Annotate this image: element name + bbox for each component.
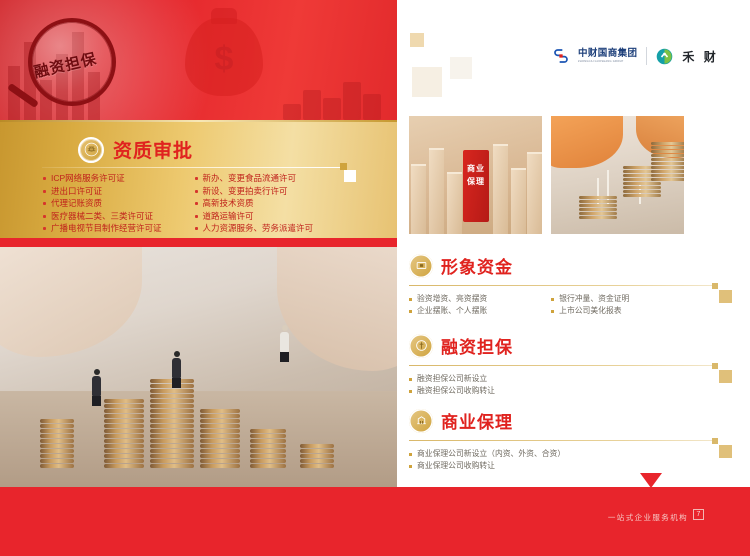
decor-square-gold (410, 33, 424, 47)
section-title: 商业保理 (441, 408, 513, 433)
list-item: 商业保理公司收购转让 (409, 460, 565, 472)
hand-left-graphic (0, 247, 142, 357)
coin-stack (150, 379, 194, 469)
miniature-figure (172, 351, 181, 388)
zhongcai-logo-text: 中财国商集团 ZHONGCAI GUOSHANG GROUP (578, 49, 637, 64)
section-financing-guarantee: 融资担保 融资担保公司新设立 融资担保公司收购转让 (409, 333, 744, 398)
coin-stack (250, 429, 286, 469)
section-title: 融资担保 (441, 333, 513, 358)
section-divider (409, 440, 714, 441)
section-list-left: 验资增资、亮资摆资 企业摆账、个人摆账 (409, 293, 487, 318)
decor-square-small (712, 438, 718, 444)
section-commercial-factoring: 商业保理 商业保理公司新设立（内资、外资、合资） 商业保理公司收购转让 (409, 408, 744, 473)
coin-stack (104, 399, 144, 469)
section-header: 商业保理 (409, 408, 744, 433)
hero-banner-photo: 融资担保 (0, 0, 397, 120)
list-item: 新设、变更拍卖行许可 (194, 185, 314, 198)
sleeve-graphic (551, 116, 623, 168)
section-divider (409, 365, 714, 366)
qualification-list-left: ICP网络服务许可证 进出口许可证 代理记账资质 医疗器械二类、三类许可证 广播… (42, 172, 162, 235)
factoring-building-icon (409, 409, 433, 433)
list-item: 银行冲量、资金证明 (551, 293, 629, 305)
hand-right-graphic (277, 247, 397, 371)
red-divider-strip (0, 238, 397, 247)
decor-square-large (719, 290, 732, 303)
section-header: 形象资金 (409, 253, 744, 278)
decor-square-cream-large (412, 67, 442, 97)
list-item: 医疗器械二类、三类许可证 (42, 210, 162, 223)
logo-divider (646, 47, 647, 65)
qualification-header: 资质审批 (78, 136, 193, 163)
qualification-title: 资质审批 (113, 136, 193, 163)
thumbnail-row: 商业保理 (409, 116, 684, 234)
main-photo-miniature-figures (0, 247, 397, 487)
coin-stack (200, 409, 240, 469)
list-item: 上市公司美化报表 (551, 305, 629, 317)
section-list-left: 商业保理公司新设立（内资、外资、合资） 商业保理公司收购转让 (409, 448, 565, 473)
logo-group: 中财国商集团 ZHONGCAI GUOSHANG GROUP 禾 财 (553, 42, 719, 70)
thumbnail-wooden-blocks: 商业保理 (409, 116, 542, 234)
page-number: 7 (693, 509, 704, 520)
money-bag-icon (185, 18, 263, 96)
logo-secondary-cn: 禾 财 (682, 48, 718, 65)
section-lists: 融资担保公司新设立 融资担保公司收购转让 (409, 373, 744, 398)
section-list-right: 银行冲量、资金证明 上市公司美化报表 (551, 293, 629, 318)
list-item: 新办、变更食品流通许可 (194, 172, 314, 185)
list-item: 验资增资、亮资摆资 (409, 293, 487, 305)
certificate-seal-icon (78, 137, 104, 163)
list-item: 高新技术资质 (194, 197, 314, 210)
list-item: 商业保理公司新设立（内资、外资、合资） (409, 448, 565, 460)
decor-square-large (719, 445, 732, 458)
thumbnail-coin-stacks (551, 116, 684, 234)
miniature-figure (280, 325, 289, 362)
qualification-divider (42, 167, 342, 168)
list-item: 融资担保公司新设立 (409, 373, 495, 385)
decor-square-small (340, 163, 347, 170)
qualification-lists: ICP网络服务许可证 进出口许可证 代理记账资质 医疗器械二类、三类许可证 广播… (42, 172, 382, 235)
section-list-left: 融资担保公司新设立 融资担保公司收购转让 (409, 373, 495, 398)
logo-primary-cn: 中财国商集团 (578, 49, 637, 59)
section-divider (409, 285, 714, 286)
footer-bar (397, 487, 750, 556)
brochure-page: 融资担保 资质审批 (0, 0, 750, 556)
list-item: 广播电视节目制作经营许可证 (42, 222, 162, 235)
decor-square-large (719, 370, 732, 383)
list-item: 道路运输许可 (194, 210, 314, 223)
section-header: 融资担保 (409, 333, 744, 358)
footer-arrow-accent (640, 473, 662, 488)
zhongcai-logo-icon (553, 48, 569, 64)
decor-square-cream-small (450, 57, 472, 79)
coin-stack (300, 444, 334, 469)
list-item: 进出口许可证 (42, 185, 162, 198)
qualification-list-right: 新办、变更食品流通许可 新设、变更拍卖行许可 高新技术资质 道路运输许可 人力资… (180, 172, 314, 235)
logo-primary-en: ZHONGCAI GUOSHANG GROUP (578, 61, 637, 64)
left-column: 融资担保 资质审批 (0, 0, 397, 556)
list-item: 企业摆账、个人摆账 (409, 305, 487, 317)
left-footer-bar (0, 487, 397, 556)
list-item: 融资担保公司收购转让 (409, 385, 495, 397)
section-lists: 验资增资、亮资摆资 企业摆账、个人摆账 银行冲量、资金证明 上市公司美化报表 (409, 293, 744, 318)
section-image-funds: 形象资金 验资增资、亮资摆资 企业摆账、个人摆账 银行冲量、资金证明 上市公司美… (409, 253, 744, 318)
thumbnail-caption: 商业保理 (463, 150, 489, 222)
decor-square-small (712, 283, 718, 289)
section-lists: 商业保理公司新设立（内资、外资、合资） 商业保理公司收购转让 (409, 448, 744, 473)
guarantee-seal-icon (409, 334, 433, 358)
coin-stack (40, 419, 74, 469)
money-certificate-icon (409, 254, 433, 278)
footer-tagline: 一站式企业服务机构 (608, 512, 688, 523)
list-item: 人力资源服务、劳务派遣许可 (194, 222, 314, 235)
decor-square-small (712, 363, 718, 369)
list-item: ICP网络服务许可证 (42, 172, 162, 185)
section-title: 形象资金 (441, 253, 513, 278)
hecai-logo-icon (656, 48, 673, 65)
coin-pile-graphic (281, 68, 391, 120)
miniature-figure (92, 369, 101, 406)
list-item: 代理记账资质 (42, 197, 162, 210)
